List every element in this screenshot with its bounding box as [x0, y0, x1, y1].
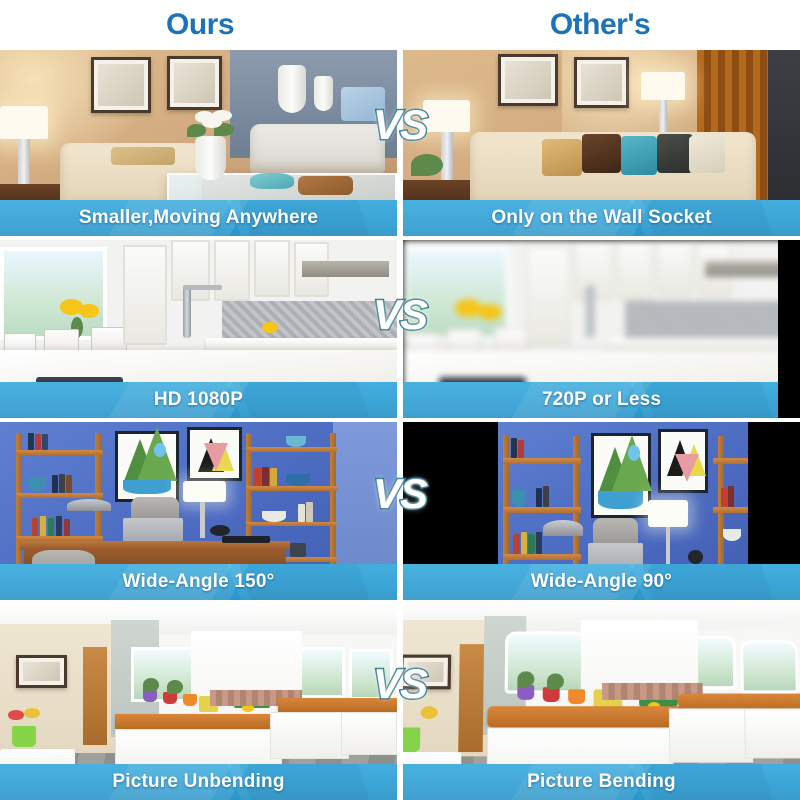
header-cell-ours: Ours	[0, 0, 400, 50]
letterbox-bar-right	[778, 240, 800, 418]
panel-ours-portability: Smaller,Moving Anywhere	[0, 50, 397, 236]
comparison-row-resolution: HD 1080P	[0, 240, 800, 418]
caption-bar: Picture Bending	[403, 764, 800, 800]
caption-label: Smaller,Moving Anywhere	[79, 207, 318, 229]
caption-bar: Only on the Wall Socket	[403, 200, 800, 236]
panel-ours-distortion: Picture Unbending	[0, 604, 397, 800]
comparison-row-field-of-view: Wide-Angle 150°	[0, 422, 800, 600]
caption-label: Picture Unbending	[112, 771, 284, 793]
vs-badge: VS	[373, 104, 427, 146]
caption-bar: Smaller,Moving Anywhere	[0, 200, 397, 236]
caption-bar: Wide-Angle 90°	[403, 564, 800, 600]
header: Ours Other's	[0, 0, 800, 50]
panel-ours-resolution: HD 1080P	[0, 240, 397, 418]
caption-label: Wide-Angle 90°	[531, 571, 672, 593]
caption-bar: Wide-Angle 150°	[0, 564, 397, 600]
caption-label: HD 1080P	[154, 389, 243, 411]
comparison-infographic: Ours Other's	[0, 0, 800, 800]
comparison-grid: Smaller,Moving Anywhere	[0, 50, 800, 800]
caption-bar: 720P or Less	[403, 382, 800, 418]
panel-others-resolution: 720P or Less	[403, 240, 800, 418]
caption-label: Only on the Wall Socket	[491, 207, 711, 229]
panel-others-distortion: Picture Bending	[403, 604, 800, 800]
vs-badge: VS	[373, 473, 427, 515]
caption-label: Wide-Angle 150°	[123, 571, 275, 593]
caption-label: 720P or Less	[542, 389, 661, 411]
caption-bar: HD 1080P	[0, 382, 397, 418]
page-title-others: Other's	[550, 10, 650, 40]
comparison-row-portability: Smaller,Moving Anywhere	[0, 50, 800, 236]
panel-others-portability: Only on the Wall Socket	[403, 50, 800, 236]
comparison-row-distortion: Picture Unbending	[0, 604, 800, 800]
caption-bar: Picture Unbending	[0, 764, 397, 800]
panel-ours-field-of-view: Wide-Angle 150°	[0, 422, 397, 600]
header-cell-others: Other's	[400, 0, 800, 50]
panel-others-field-of-view: Wide-Angle 90°	[403, 422, 800, 600]
caption-label: Picture Bending	[527, 771, 676, 793]
page-title-ours: Ours	[166, 10, 234, 40]
vs-badge: VS	[373, 294, 427, 336]
vs-badge: VS	[373, 663, 427, 705]
